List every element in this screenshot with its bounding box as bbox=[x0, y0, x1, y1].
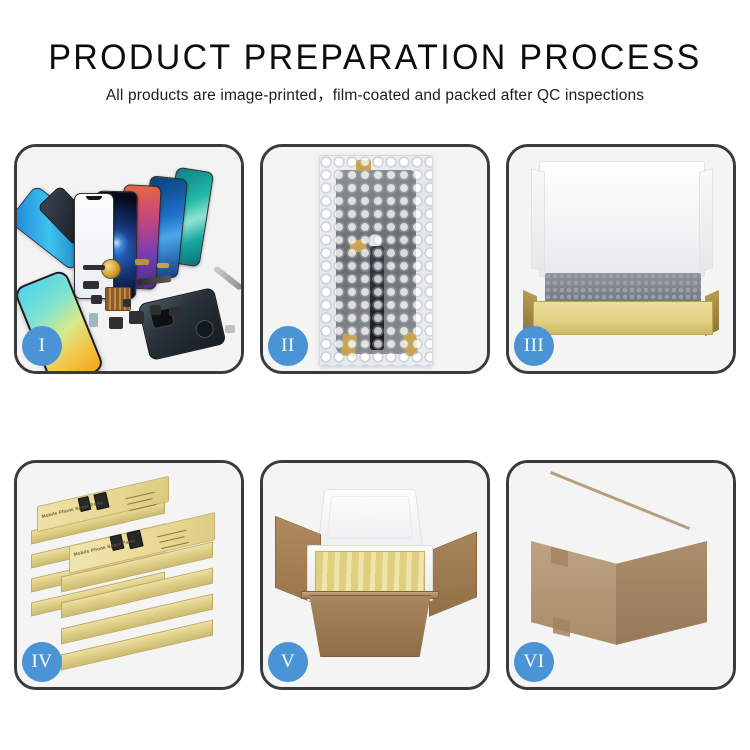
small-part-icon bbox=[123, 299, 131, 307]
small-part-icon bbox=[225, 325, 235, 333]
process-step-panel-1[interactable]: I bbox=[14, 144, 244, 374]
small-part-icon bbox=[129, 311, 144, 324]
small-part-icon bbox=[89, 313, 98, 327]
bubble-wrap-bag-icon bbox=[319, 155, 433, 367]
step-badge-4: IV bbox=[22, 642, 62, 682]
phone-notch-icon bbox=[86, 196, 102, 200]
small-part-icon bbox=[157, 263, 169, 268]
tape-strip-icon bbox=[356, 160, 371, 171]
carton-front-face-icon bbox=[531, 541, 617, 645]
carton-flap-right-icon bbox=[429, 531, 477, 616]
carton-tape-patch-icon bbox=[553, 617, 570, 637]
small-part-icon bbox=[91, 295, 102, 304]
step-badge-6: VI bbox=[514, 642, 554, 682]
yellow-box-front-icon bbox=[533, 301, 713, 335]
small-part-icon bbox=[169, 307, 182, 316]
page-header: PRODUCT PREPARATION PROCESS All products… bbox=[0, 0, 750, 107]
small-part-icon bbox=[150, 305, 161, 315]
small-part-icon bbox=[135, 259, 149, 265]
process-step-panel-4[interactable]: Mobile Phone Spare Parts Mobile Phone Sp… bbox=[14, 460, 244, 690]
step-badge-3: III bbox=[514, 326, 554, 366]
screen-flex-cable-icon bbox=[370, 246, 384, 350]
step-badge-5: V bbox=[268, 642, 308, 682]
small-part-icon bbox=[83, 265, 105, 270]
process-step-panel-6[interactable]: VI bbox=[506, 460, 736, 690]
process-step-panel-3[interactable]: III bbox=[506, 144, 736, 374]
page-title: PRODUCT PREPARATION PROCESS bbox=[11, 38, 739, 78]
process-steps-grid: I II III bbox=[14, 144, 736, 690]
page-subtitle: All products are image-printed，film-coat… bbox=[0, 85, 750, 107]
carton-body-icon bbox=[301, 595, 439, 657]
step-badge-2: II bbox=[268, 326, 308, 366]
small-part-icon bbox=[109, 317, 123, 329]
process-step-panel-2[interactable]: II bbox=[260, 144, 490, 374]
step-badge-1: I bbox=[22, 326, 62, 366]
packed-yellow-boxes-icon bbox=[315, 551, 425, 595]
tape-strip-icon bbox=[403, 331, 418, 356]
process-step-panel-5[interactable]: V bbox=[260, 460, 490, 690]
tape-strip-icon bbox=[341, 333, 358, 357]
white-box-lid-icon bbox=[539, 161, 705, 277]
small-part-icon bbox=[83, 281, 99, 289]
foam-lid-icon bbox=[317, 489, 423, 547]
